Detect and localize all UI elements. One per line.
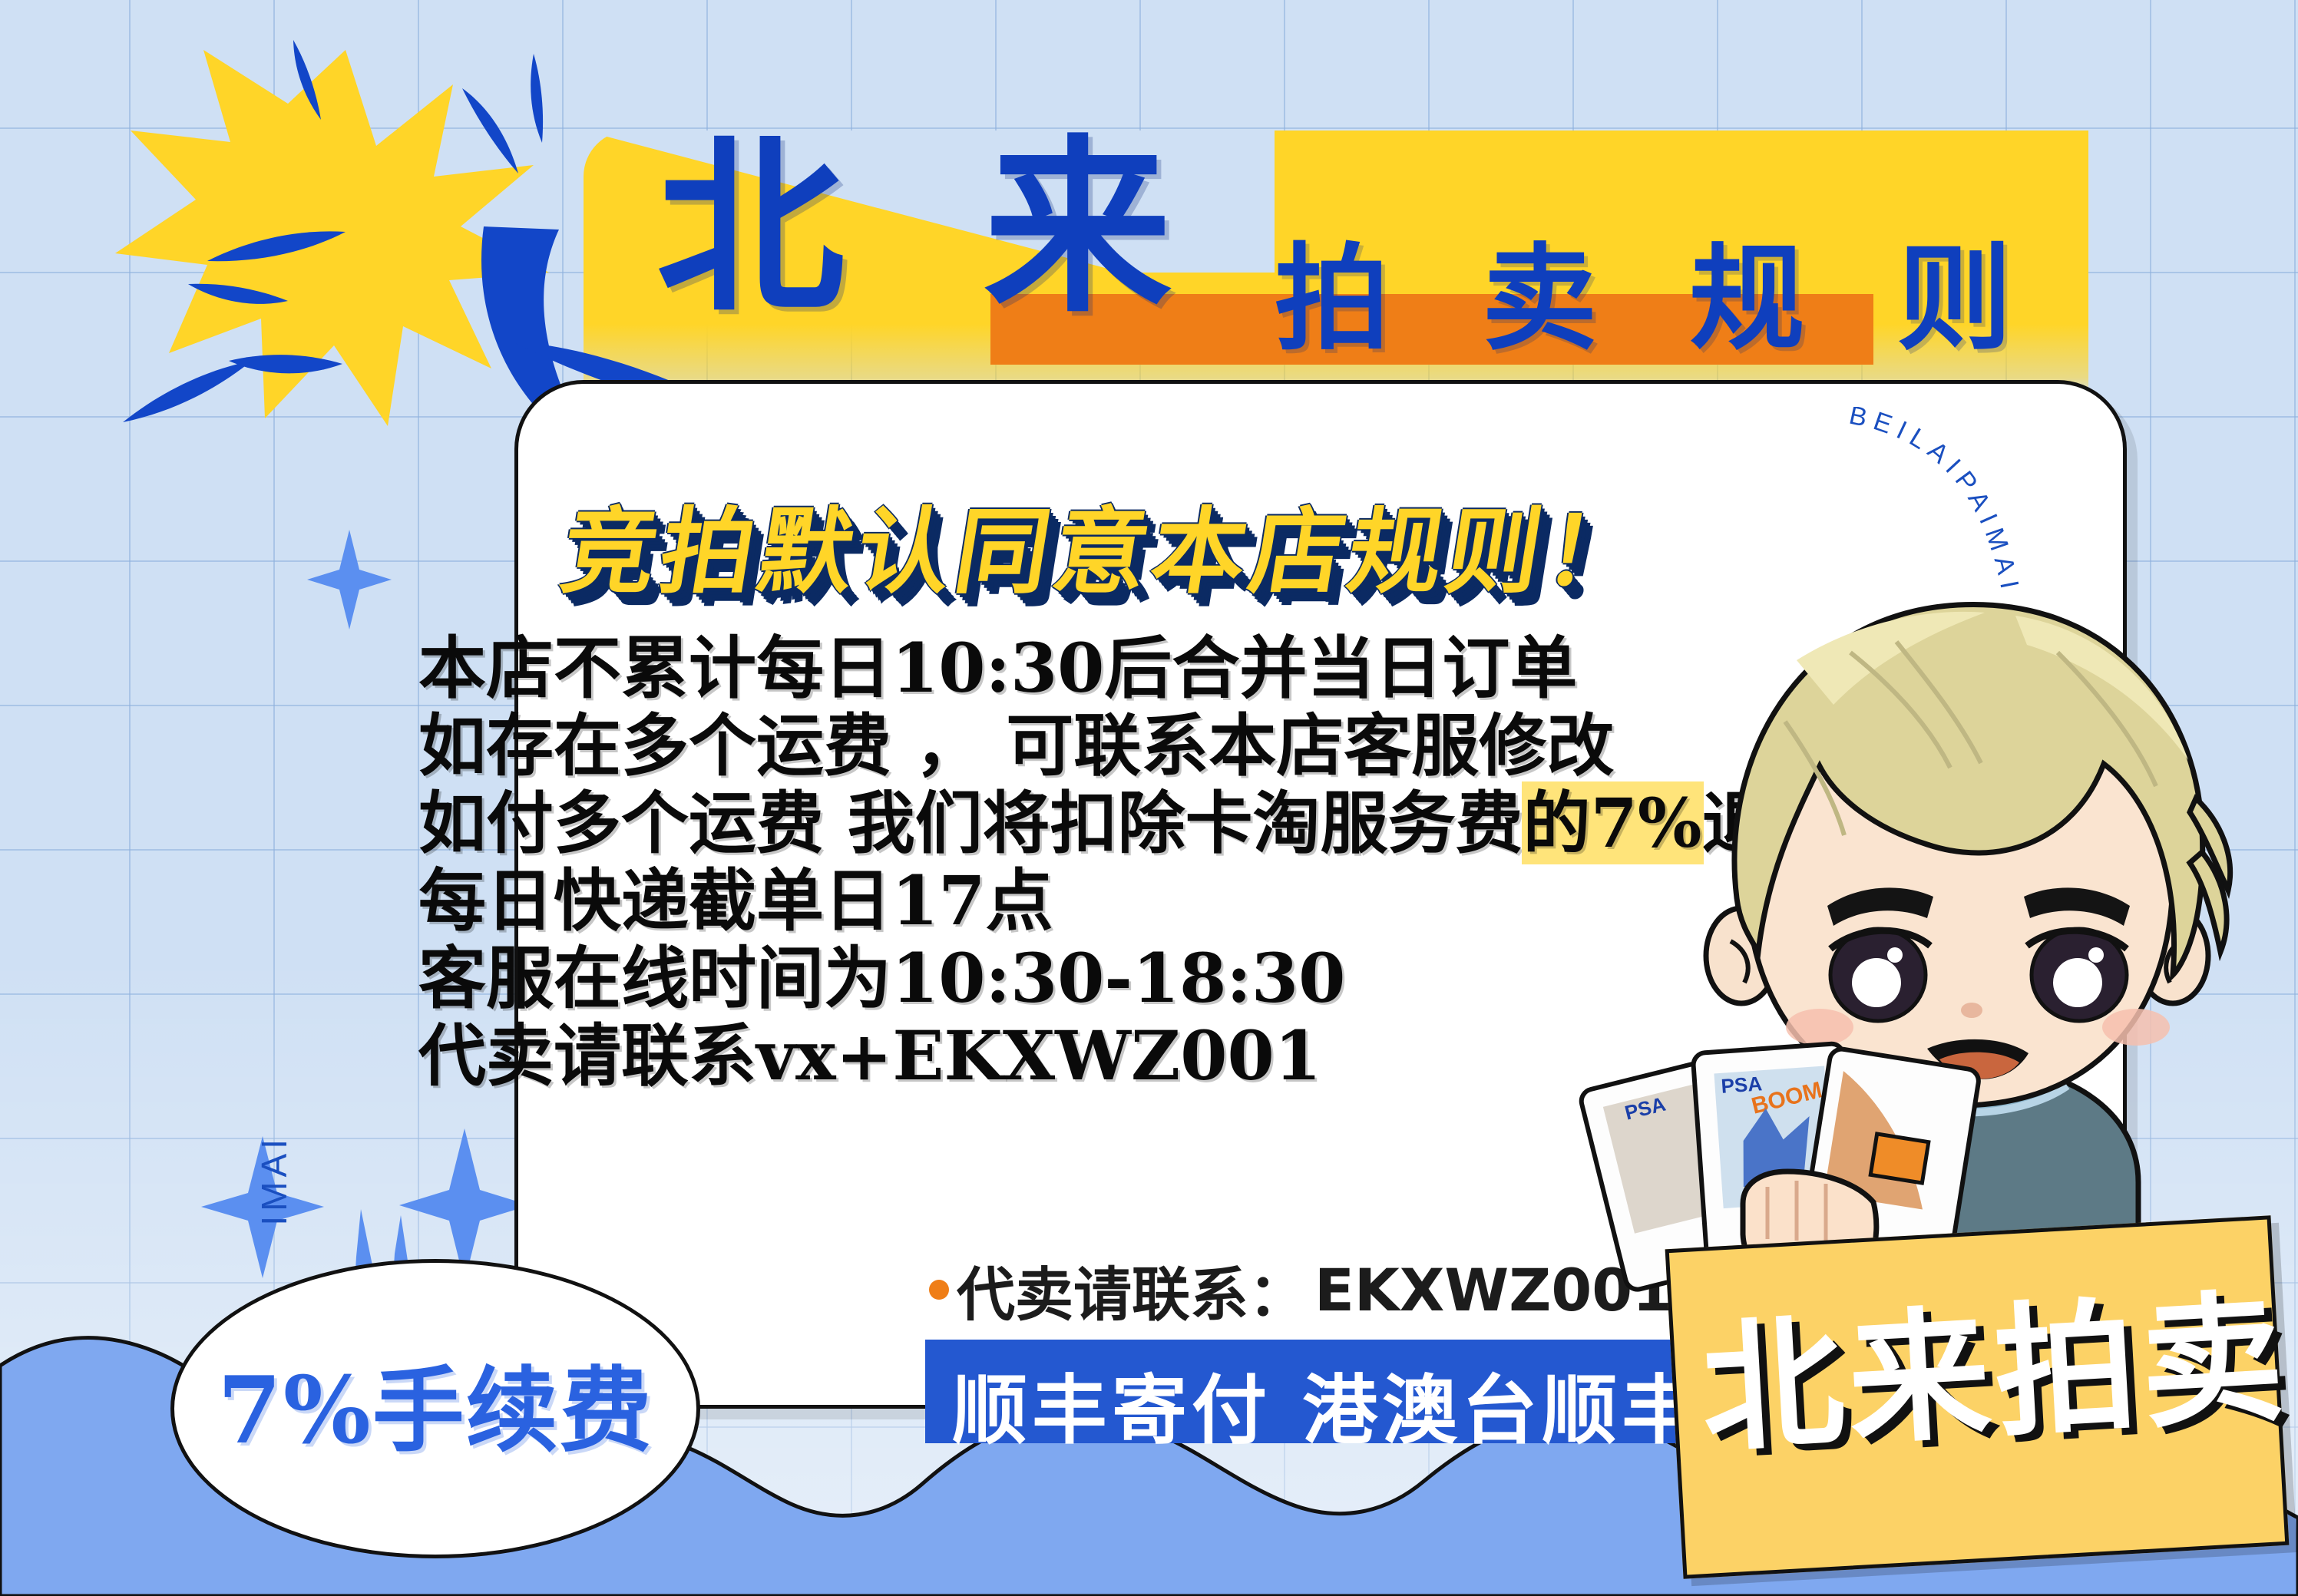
sparkle-star-icon: [307, 530, 392, 629]
contact-line: 代卖请联系： EKXWZ001: [929, 1247, 1673, 1332]
rule-text: 客服在线时间为10:30-18:30: [418, 938, 1345, 1018]
fee-badge-text: 7%手续费: [217, 1336, 653, 1469]
page-title-sub: 拍 卖 规 则: [1275, 242, 2038, 357]
card-headline: 竞拍默认同意本店规则！: [554, 476, 1656, 612]
poster-canvas: 北 来 拍 卖 规 则 〈BEILAIPAIMAI〉 BEILAIPAIMAI …: [0, 0, 2298, 1596]
rule-text: 每日快递截单日17点: [418, 861, 1053, 940]
contact-label: 代卖请联系：: [957, 1247, 1307, 1332]
shop-sign-text: 北来拍卖: [1695, 1244, 2274, 1481]
side-brand-mark: IMAI: [253, 1135, 295, 1226]
rule-text: 本店不累计每日10:30后合并当日订单: [418, 628, 1577, 708]
rule-text-pre: 如付多个运费 我们将扣除卡淘服务费: [418, 783, 1523, 863]
rule-text: 代卖请联系vx+EKXWZ001: [418, 1016, 1321, 1095]
bullet-dot-icon: [929, 1280, 949, 1300]
page-title-main: 北 来: [656, 134, 1209, 322]
fee-badge: 7%手续费: [170, 1259, 700, 1558]
rule-text: 如存在多个运费 ， 可联系本店客服修改: [418, 705, 1614, 785]
